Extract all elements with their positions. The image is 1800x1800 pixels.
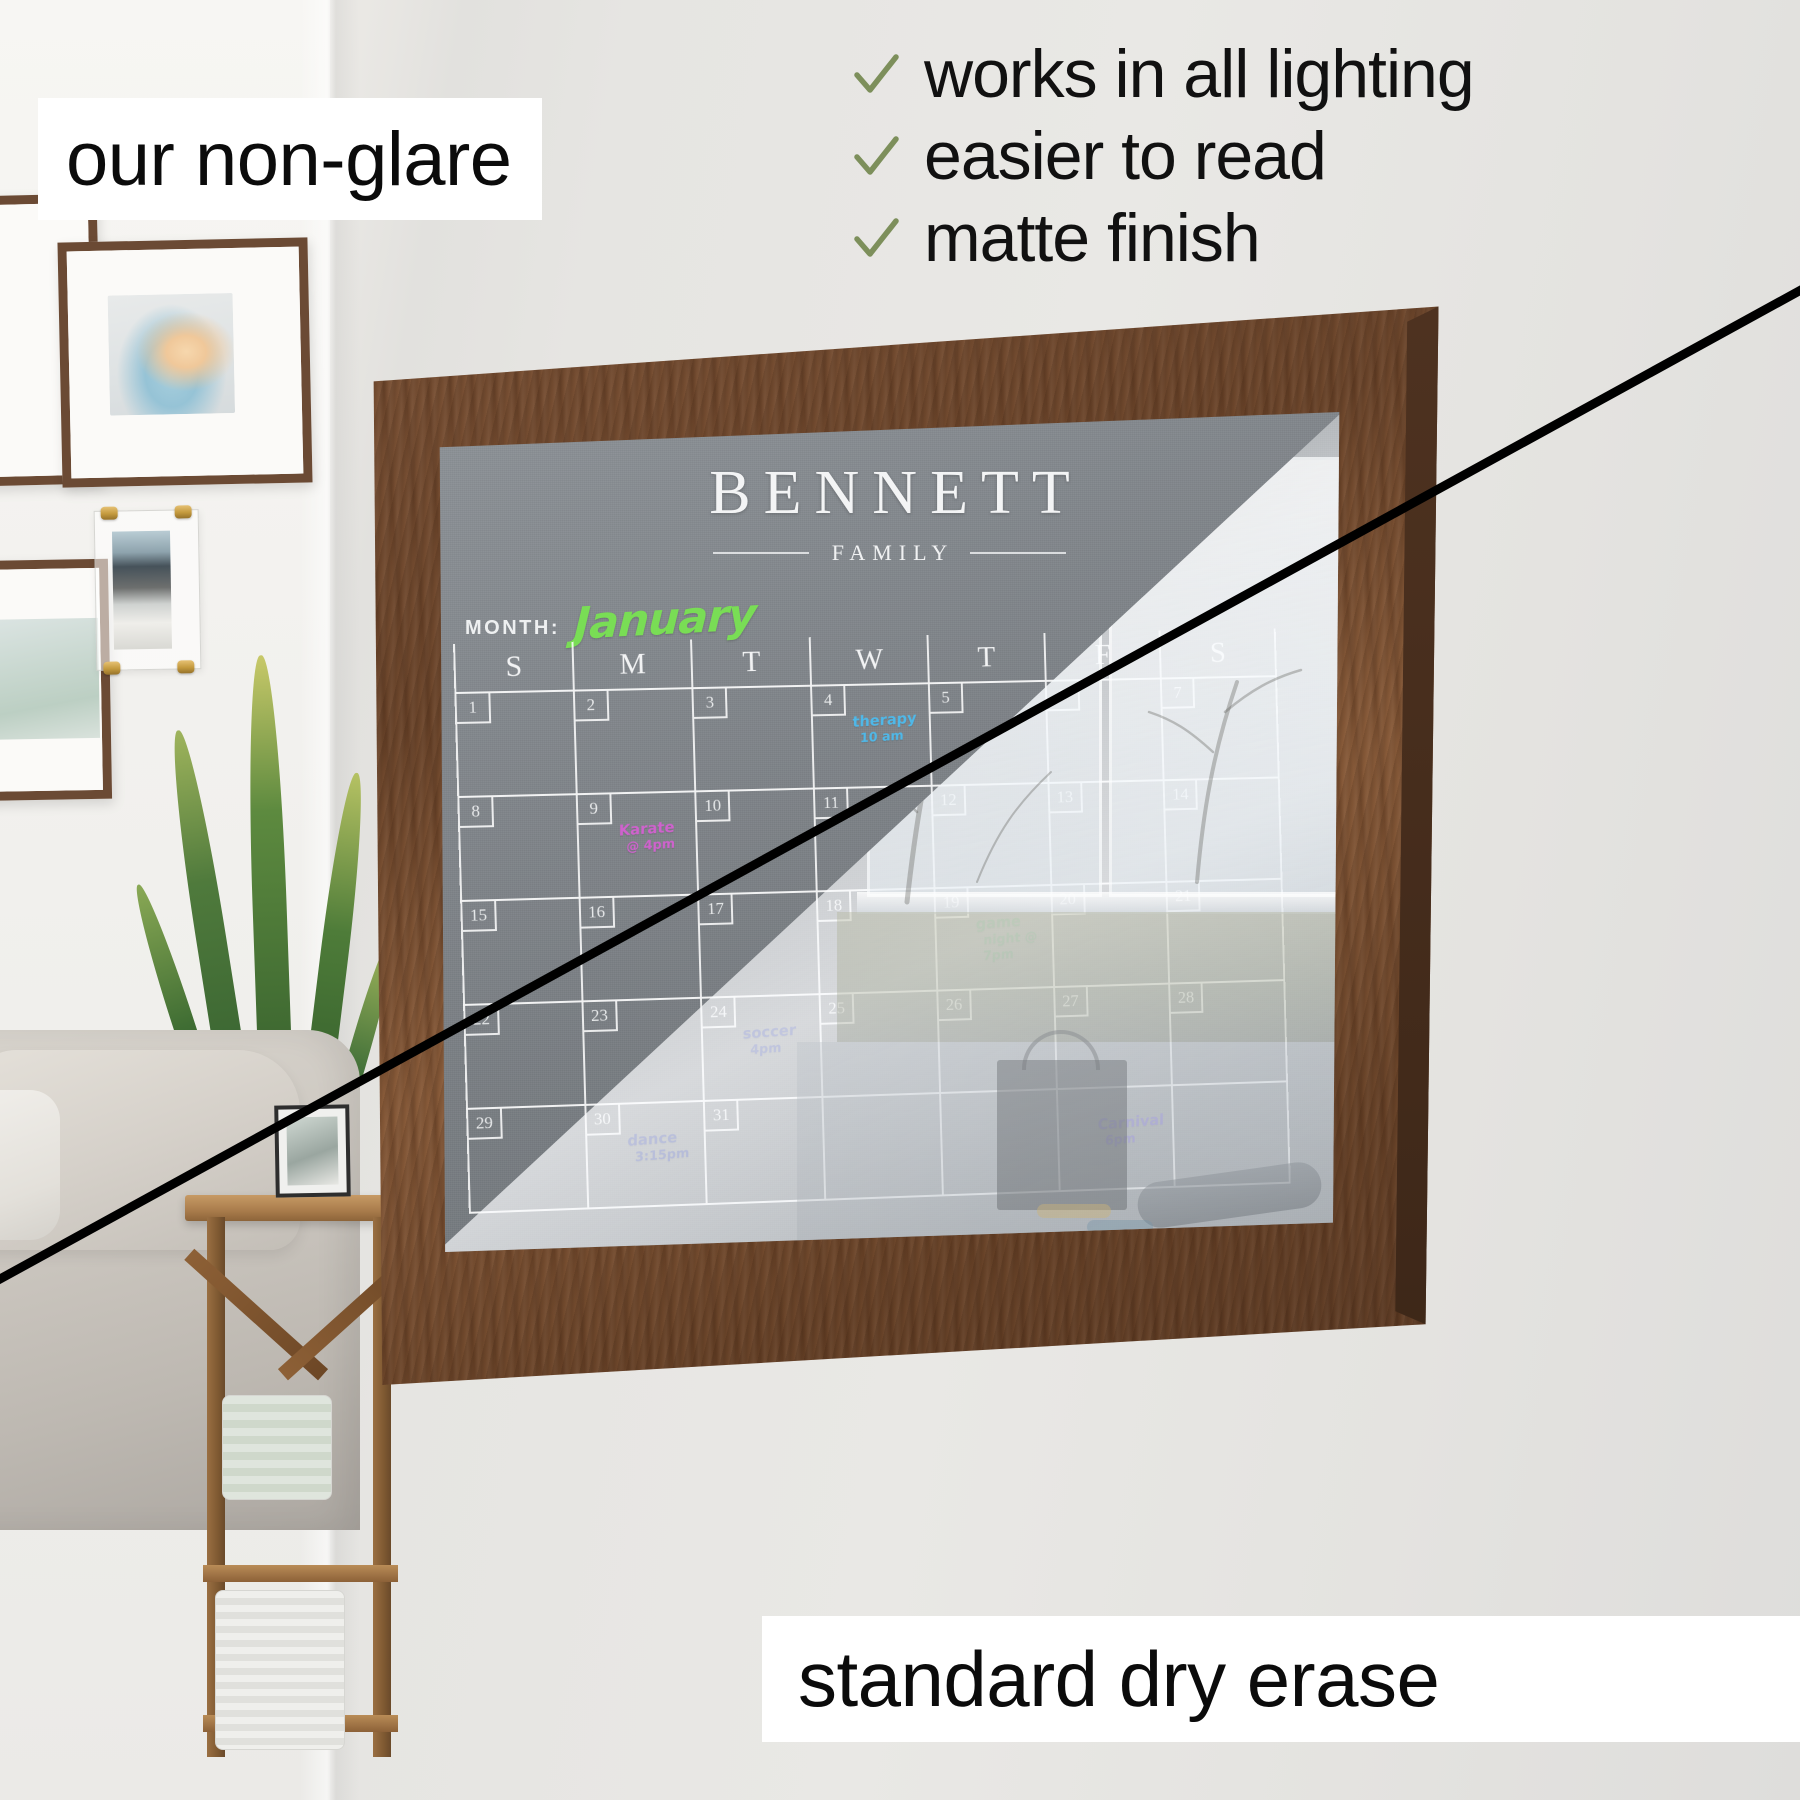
calendar-day-cell[interactable]: 24soccer4pm: [702, 995, 823, 1100]
handwritten-event-entry: dance3:15pm: [627, 1126, 701, 1167]
handwritten-event-entry: Carnival6pm: [1097, 1110, 1169, 1150]
calendar-day-cell[interactable]: 25: [821, 992, 941, 1096]
framed-calendar-board: BENNETT FAMILY MONTH: January SMTWTFS 12…: [365, 300, 1445, 1385]
day-number: 30: [586, 1105, 620, 1136]
day-number: 28: [1170, 984, 1203, 1014]
calendar-day-cell[interactable]: 31: [705, 1098, 826, 1203]
feature-item-2: matte finish: [850, 200, 1750, 276]
brass-standoff-icon: [175, 505, 192, 518]
day-number: 5: [930, 684, 964, 714]
calendar-day-cell[interactable]: 23: [583, 999, 705, 1104]
day-number: 23: [583, 1001, 617, 1032]
calendar-day-cell[interactable]: 10: [697, 790, 818, 894]
day-header-3: W: [811, 635, 930, 685]
calendar-day-cell[interactable]: 11: [815, 787, 935, 891]
rule-right: [970, 552, 1066, 554]
feature-label: easier to read: [924, 118, 1326, 194]
baby-photo: [108, 293, 235, 416]
calendar-day-cell[interactable]: 17: [700, 892, 821, 996]
day-header-2: T: [692, 637, 812, 687]
day-number: 29: [468, 1109, 503, 1140]
day-number: 31: [705, 1101, 739, 1132]
calendar-day-cell[interactable]: 6: [1046, 679, 1164, 781]
day-number: 15: [462, 901, 497, 932]
calendar-day-cell[interactable]: [824, 1094, 944, 1199]
day-number: 3: [694, 688, 728, 718]
calendar-day-cell[interactable]: 5: [930, 682, 1049, 785]
feature-label: matte finish: [924, 200, 1260, 276]
calendar-day-cell[interactable]: 30dance3:15pm: [586, 1102, 708, 1208]
gallery-frame-baby-photo: [57, 237, 312, 487]
calendar-day-cell[interactable]: 27: [1055, 985, 1173, 1089]
day-number: 7: [1162, 679, 1195, 709]
calendar-day-cell[interactable]: 21: [1168, 880, 1286, 983]
banner-bottom-text: standard dry erase: [798, 1634, 1439, 1725]
month-row: MONTH: January: [465, 594, 756, 645]
calendar-day-cell[interactable]: 12: [932, 784, 1051, 887]
calendar-day-cell[interactable]: 14: [1165, 778, 1283, 880]
calendar-day-cell[interactable]: 28: [1170, 981, 1288, 1084]
calendar-day-cell[interactable]: 4therapy10 am: [812, 684, 932, 787]
calendar-day-cell[interactable]: 15: [460, 899, 583, 1004]
board-subtitle: FAMILY: [825, 540, 955, 566]
day-number: 2: [575, 691, 610, 722]
day-header-5: F: [1045, 631, 1162, 680]
calendar-day-cell[interactable]: 1: [454, 692, 577, 796]
event-line-2: night @ 7pm: [983, 928, 1048, 965]
calendar-day-cell[interactable]: 26: [938, 988, 1057, 1092]
landscape-photo: [0, 618, 100, 740]
calendar-day-cell[interactable]: [1173, 1082, 1291, 1186]
calendar-day-cell[interactable]: 22: [463, 1002, 586, 1108]
calendar-surface: BENNETT FAMILY MONTH: January SMTWTFS 12…: [437, 412, 1342, 1252]
marketing-comparison-image: BENNETT FAMILY MONTH: January SMTWTFS 12…: [0, 0, 1800, 1800]
board-subtitle-row: FAMILY: [437, 540, 1342, 566]
day-number: 19: [935, 888, 969, 918]
day-number: 9: [577, 794, 612, 825]
handwritten-event-entry: gamenight @ 7pm: [975, 910, 1048, 966]
rule-left: [713, 552, 809, 554]
brass-standoff-icon: [101, 507, 118, 520]
calendar-grid: SMTWTFS 1234therapy10 am56789Karate@ 4pm…: [453, 628, 1291, 1215]
calendar-day-cell[interactable]: 16: [580, 896, 702, 1001]
day-header-0: S: [453, 642, 574, 692]
day-number: 22: [465, 1005, 500, 1036]
day-header-1: M: [573, 639, 694, 689]
calendar-day-cell[interactable]: 20: [1052, 883, 1170, 986]
day-number: 13: [1049, 783, 1082, 813]
day-number: 4: [812, 686, 846, 716]
day-number: 8: [459, 797, 494, 828]
calendar-day-cell[interactable]: 13: [1049, 781, 1167, 884]
calendar-day-cell[interactable]: [941, 1090, 1060, 1194]
feature-label: works in all lighting: [924, 36, 1474, 112]
day-number: 16: [580, 898, 614, 929]
tabletop-picture-frame: [274, 1104, 351, 1197]
calendar-day-cell[interactable]: 29: [466, 1106, 589, 1212]
day-number: 24: [702, 998, 736, 1029]
event-line-1: therapy: [852, 709, 916, 731]
handwritten-event-entry: Karate@ 4pm: [618, 817, 692, 857]
day-number: 27: [1055, 987, 1088, 1017]
handwritten-event-entry: soccer4pm: [743, 1019, 817, 1059]
banner-standard-dry-erase: standard dry erase: [762, 1616, 1800, 1742]
day-number: 26: [938, 991, 972, 1022]
banner-top-text: our non-glare: [66, 116, 512, 203]
board-family-name: BENNETT: [437, 458, 1342, 529]
day-number: 1: [456, 693, 491, 724]
event-line-2: @ 4pm: [626, 835, 692, 856]
check-icon: [850, 130, 902, 182]
month-label: MONTH:: [465, 617, 560, 640]
day-number: 20: [1052, 885, 1085, 915]
day-number: 6: [1046, 681, 1079, 711]
calendar-day-cell[interactable]: Carnival6pm: [1057, 1086, 1175, 1190]
calendar-day-cell[interactable]: 18: [818, 889, 938, 993]
table-shelf: [203, 1565, 398, 1582]
brass-standoff-icon: [177, 660, 194, 673]
wedding-photo: [112, 531, 172, 650]
acrylic-frame-wedding-photo: [94, 509, 202, 671]
day-number: 18: [818, 891, 852, 922]
calendar-day-cell[interactable]: 3: [694, 687, 815, 791]
feature-item-0: works in all lighting: [850, 36, 1750, 112]
event-line-2: 10 am: [860, 727, 925, 747]
day-number: 17: [700, 895, 734, 926]
banner-our-non-glare: our non-glare: [38, 98, 542, 220]
calendar-day-cell[interactable]: 7: [1162, 677, 1280, 779]
day-header-4: T: [928, 633, 1046, 683]
brass-standoff-icon: [103, 661, 120, 674]
calendar-week-row: 1234therapy10 am567: [454, 677, 1279, 798]
event-line-1: game: [976, 912, 1021, 933]
day-number: 10: [697, 792, 731, 823]
check-icon: [850, 48, 902, 100]
calendar-day-cell[interactable]: 19gamenight @ 7pm: [935, 886, 1054, 990]
storage-basket: [215, 1590, 345, 1750]
day-number: 21: [1168, 882, 1201, 912]
sofa-pillow: [0, 1090, 60, 1240]
day-number: 11: [815, 789, 849, 819]
storage-basket: [222, 1395, 332, 1500]
day-header-6: S: [1161, 628, 1277, 677]
calendar-day-cell[interactable]: 8: [457, 795, 580, 900]
check-icon: [850, 212, 902, 264]
feature-item-1: easier to read: [850, 118, 1750, 194]
handwritten-event-entry: therapy10 am: [852, 708, 925, 747]
day-number: 25: [821, 994, 855, 1025]
calendar-day-cell[interactable]: 2: [575, 689, 697, 793]
day-number: 12: [932, 786, 966, 816]
tabletop-photo: [286, 1117, 338, 1186]
day-number: 14: [1165, 780, 1198, 810]
calendar-week-rows: 1234therapy10 am56789Karate@ 4pm10111213…: [454, 675, 1290, 1214]
calendar-day-cell[interactable]: 9Karate@ 4pm: [577, 792, 699, 896]
event-line-1: soccer: [743, 1021, 797, 1043]
feature-checklist: works in all lightingeasier to readmatte…: [850, 36, 1750, 282]
